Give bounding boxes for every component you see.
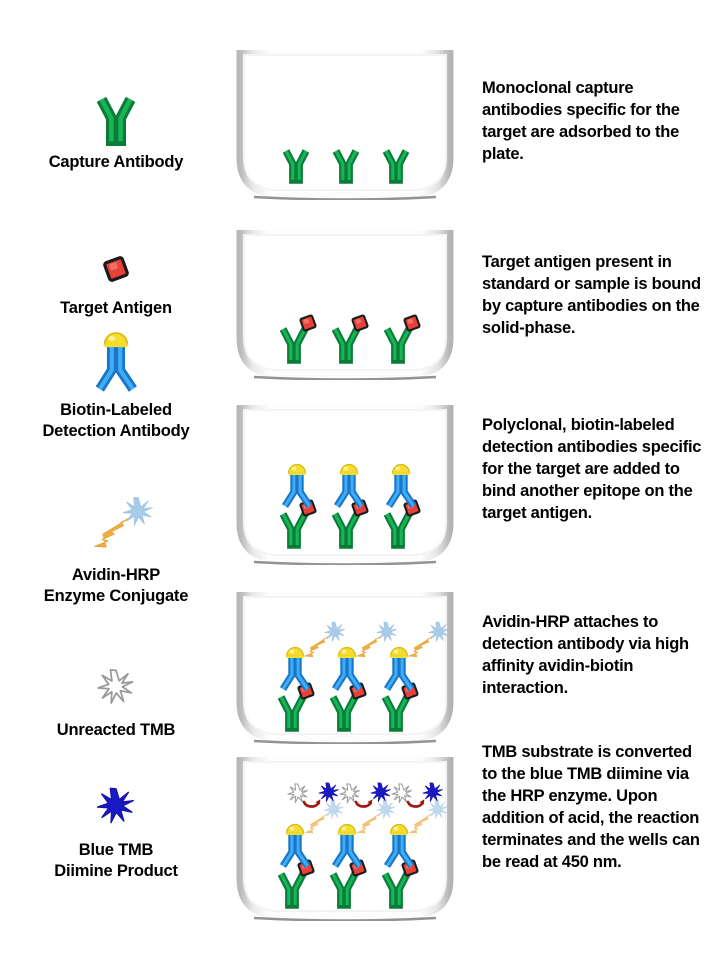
- legend-label-avidin-hrp: Avidin-HRP Enzyme Conjugate: [0, 565, 232, 607]
- elisa-diagram: Capture Antibody Target Antigen Biotin-L…: [0, 0, 720, 960]
- well-step-5-tmb: [236, 757, 454, 921]
- legend-label-unreacted-tmb: Unreacted TMB: [0, 720, 232, 741]
- legend-item-avidin-hrp: Avidin-HRP Enzyme Conjugate: [0, 485, 232, 607]
- legend-label-biotin-detection-antibody: Biotin-Labeled Detection Antibody: [0, 400, 232, 442]
- legend-item-capture-antibody: Capture Antibody: [0, 72, 232, 173]
- white-starburst-icon: [0, 640, 232, 714]
- well-step-2-antigen: [236, 230, 454, 380]
- legend-label-blue-tmb-diimine: Blue TMB Diimine Product: [0, 840, 232, 882]
- step-description-1: Monoclonal capture antibodies specific f…: [482, 78, 706, 166]
- legend-item-target-antigen: Target Antigen: [0, 218, 232, 319]
- blue-antibody-with-yellow-biotin-icon: [0, 320, 232, 394]
- legend-label-capture-antibody: Capture Antibody: [0, 152, 232, 173]
- green-y-antibody-icon: [0, 72, 232, 146]
- orange-arrow-blue-starburst-icon: [0, 485, 232, 559]
- legend-item-blue-tmb-diimine: Blue TMB Diimine Product: [0, 760, 232, 882]
- blue-starburst-icon: [0, 760, 232, 834]
- step-description-5: TMB substrate is converted to the blue T…: [482, 742, 706, 874]
- legend-item-biotin-detection-antibody: Biotin-Labeled Detection Antibody: [0, 320, 232, 442]
- legend-label-target-antigen: Target Antigen: [0, 298, 232, 319]
- step-description-2: Target antigen present in standard or sa…: [482, 252, 706, 340]
- well-step-3-detection: [236, 405, 454, 565]
- red-square-antigen-icon: [0, 218, 232, 292]
- well-step-1-capture: [236, 50, 454, 200]
- well-step-4-avidin-hrp: [236, 592, 454, 744]
- legend-item-unreacted-tmb: Unreacted TMB: [0, 640, 232, 741]
- step-description-3: Polyclonal, biotin-labeled detection ant…: [482, 415, 706, 525]
- step-description-4: Avidin-HRP attaches to detection antibod…: [482, 612, 706, 700]
